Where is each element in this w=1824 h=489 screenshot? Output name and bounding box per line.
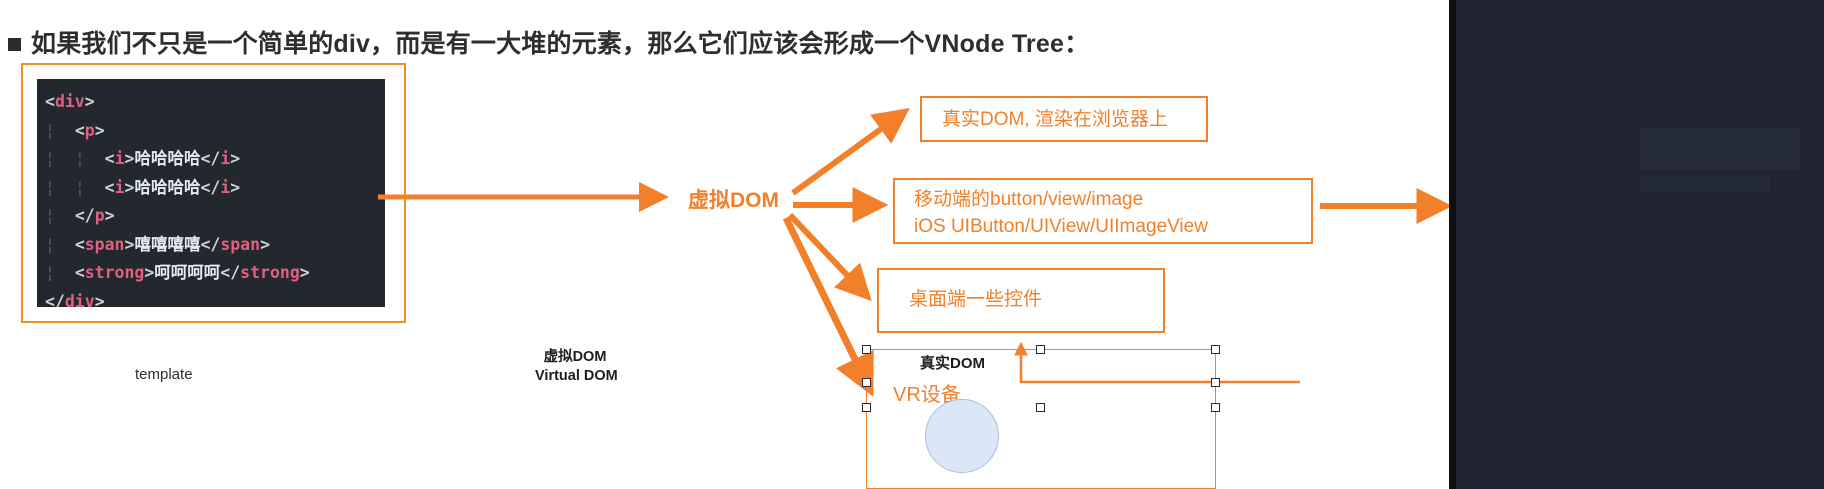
code-line: ¦ </p>: [37, 202, 385, 231]
resize-handle-ml[interactable]: [862, 378, 871, 387]
code-bracket: <: [105, 149, 115, 168]
bullet-square-icon: [8, 38, 21, 51]
code-line: ¦ <strong>呵呵呵呵</strong>: [37, 259, 385, 288]
code-tag: div: [65, 292, 95, 308]
code-tag: p: [95, 206, 105, 225]
slide-canvas: 如果我们不只是一个简单的div，而是有一大堆的元素，那么它们应该会形成一个VNo…: [0, 0, 1824, 489]
indent-guide: ¦: [45, 178, 75, 197]
callout-mobile-controls-text: 移动端的button/view/image iOS UIButton/UIVie…: [914, 186, 1208, 240]
callout-desktop-controls: 桌面端一些控件: [877, 268, 1165, 333]
code-bracket: >: [85, 92, 95, 111]
code-bracket: </: [200, 178, 220, 197]
code-line: </div>: [37, 288, 385, 308]
dark-side-panel: [1456, 0, 1824, 489]
code-line: <div>: [37, 88, 385, 117]
code-tag: span: [220, 235, 260, 254]
page-title-text: 如果我们不只是一个简单的div，而是有一大堆的元素，那么它们应该会形成一个VNo…: [31, 24, 1089, 60]
code-bracket: >: [125, 235, 135, 254]
dark-panel-block-2: [1640, 176, 1770, 192]
code-bracket: >: [125, 149, 135, 168]
code-bracket: <: [75, 121, 85, 140]
code-tag: i: [220, 178, 230, 197]
callout-mobile-controls: 移动端的button/view/image iOS UIButton/UIVie…: [893, 178, 1313, 244]
vr-circle-shape: [925, 399, 999, 473]
code-block: <div>¦ <p>¦ ¦ <i>哈哈哈哈</i>¦ ¦ <i>哈哈哈哈</i>…: [37, 79, 385, 307]
code-tag: i: [220, 149, 230, 168]
resize-handle-tr[interactable]: [1211, 345, 1220, 354]
resize-handle-tl[interactable]: [862, 345, 871, 354]
code-bracket: <: [75, 263, 85, 282]
code-bracket: </: [75, 206, 95, 225]
page-title: 如果我们不只是一个简单的div，而是有一大堆的元素，那么它们应该会形成一个VNo…: [8, 24, 1089, 60]
code-bracket: >: [105, 206, 115, 225]
code-text: 哈哈哈哈: [134, 149, 200, 168]
indent-guide: ¦: [75, 178, 105, 197]
code-line: ¦ <p>: [37, 117, 385, 146]
caption-template: template: [135, 366, 193, 383]
callout-desktop-controls-text: 桌面端一些控件: [909, 286, 1042, 313]
indent-guide: ¦: [45, 263, 75, 282]
code-tag: span: [85, 235, 125, 254]
code-bracket: >: [260, 235, 270, 254]
indent-guide: ¦: [45, 121, 75, 140]
code-tag: strong: [240, 263, 300, 282]
caption-virtual-dom: 虚拟DOM Virtual DOM: [535, 348, 615, 386]
indent-guide: ¦: [75, 149, 105, 168]
code-tag: p: [85, 121, 95, 140]
code-line: ¦ <span>嘻嘻嘻嘻</span>: [37, 231, 385, 260]
code-bracket: </: [200, 149, 220, 168]
resize-handle-tm[interactable]: [1036, 345, 1045, 354]
virtual-dom-label: 虚拟DOM: [688, 184, 779, 214]
selected-shape-outline[interactable]: [866, 349, 1216, 489]
code-bracket: >: [125, 178, 135, 197]
arrow-vdom-to-desktop: [790, 215, 866, 295]
code-panel: <div>¦ <p>¦ ¦ <i>哈哈哈哈</i>¦ ¦ <i>哈哈哈哈</i>…: [21, 63, 406, 323]
code-bracket: <: [45, 92, 55, 111]
code-bracket: >: [95, 121, 105, 140]
callout-real-dom: 真实DOM, 渲染在浏览器上: [920, 96, 1208, 142]
code-tag: i: [115, 178, 125, 197]
code-bracket: >: [230, 149, 240, 168]
code-bracket: </: [200, 235, 220, 254]
code-bracket: >: [95, 292, 105, 308]
arrow-vdom-to-vr: [786, 218, 869, 388]
code-text: 哈哈哈哈: [134, 178, 200, 197]
callout-real-dom-text: 真实DOM, 渲染在浏览器上: [942, 106, 1168, 133]
code-tag: div: [55, 92, 85, 111]
indent-guide: ¦: [45, 149, 75, 168]
code-text: 嘻嘻嘻嘻: [134, 235, 200, 254]
resize-handle-mr[interactable]: [1211, 378, 1220, 387]
code-tag: strong: [85, 263, 145, 282]
resize-handle-br[interactable]: [1211, 403, 1220, 412]
resize-handle-bl[interactable]: [862, 403, 871, 412]
selected-real-dom-label: 真实DOM: [920, 352, 985, 373]
code-bracket: >: [300, 263, 310, 282]
code-line: ¦ ¦ <i>哈哈哈哈</i>: [37, 174, 385, 203]
arrow-vdom-to-realdom: [793, 113, 903, 193]
indent-guide: ¦: [45, 235, 75, 254]
code-line: ¦ ¦ <i>哈哈哈哈</i>: [37, 145, 385, 174]
code-bracket: >: [230, 178, 240, 197]
dark-panel-block-1: [1640, 128, 1800, 170]
code-bracket: >: [144, 263, 154, 282]
resize-handle-bm[interactable]: [1036, 403, 1045, 412]
code-bracket: </: [45, 292, 65, 308]
code-text: 呵呵呵呵: [154, 263, 220, 282]
code-bracket: </: [220, 263, 240, 282]
indent-guide: ¦: [45, 206, 75, 225]
code-bracket: <: [105, 178, 115, 197]
code-tag: i: [115, 149, 125, 168]
code-bracket: <: [75, 235, 85, 254]
